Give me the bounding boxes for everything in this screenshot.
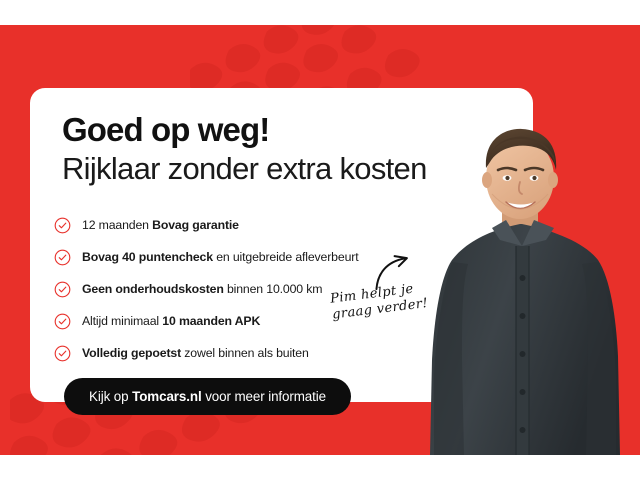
page-subtitle: Rijklaar zonder extra kosten xyxy=(62,151,515,187)
cta-button-label: Kijk op Tomcars.nl voor meer informatie xyxy=(89,389,326,404)
check-circle-icon xyxy=(54,313,71,330)
promo-banner: Goed op weg! Rijklaar zonder extra koste… xyxy=(0,0,640,480)
check-circle-icon xyxy=(54,345,71,362)
curved-arrow-icon xyxy=(370,252,420,291)
list-item: Volledig gepoetst zowel binnen als buite… xyxy=(54,338,394,368)
list-item: 12 maanden Bovag garantie xyxy=(54,210,394,240)
page-title: Goed op weg! xyxy=(62,112,515,149)
card-heading-block: Goed op weg! Rijklaar zonder extra koste… xyxy=(62,112,515,187)
check-circle-icon xyxy=(54,281,71,298)
list-item-label: Volledig gepoetst zowel binnen als buite… xyxy=(82,346,309,361)
check-circle-icon xyxy=(54,249,71,266)
list-item-label: 12 maanden Bovag garantie xyxy=(82,218,239,233)
list-item-label: Bovag 40 puntencheck en uitgebreide afle… xyxy=(82,250,358,265)
check-circle-icon xyxy=(54,217,71,234)
list-item: Bovag 40 puntencheck en uitgebreide afle… xyxy=(54,242,394,272)
list-item-label: Geen onderhoudskosten binnen 10.000 km xyxy=(82,282,322,297)
list-item-label: Altijd minimaal 10 maanden APK xyxy=(82,314,260,329)
cta-button[interactable]: Kijk op Tomcars.nl voor meer informatie xyxy=(64,378,351,415)
